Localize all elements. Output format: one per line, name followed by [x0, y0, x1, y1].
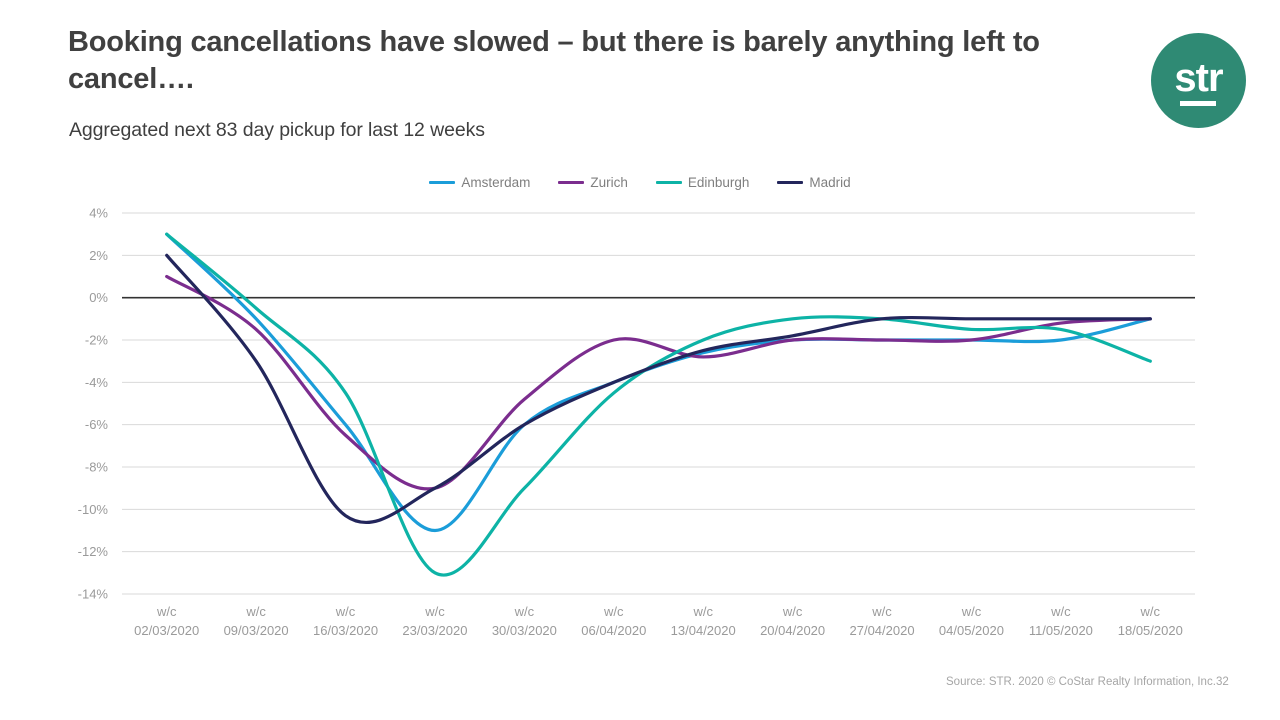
- x-axis-tick-prefix: w/c: [603, 604, 624, 619]
- y-axis-tick-label: -2%: [85, 333, 109, 348]
- x-axis-tick-label: 27/04/2020: [850, 623, 915, 638]
- x-axis-tick-prefix: w/c: [961, 604, 982, 619]
- x-axis-tick-label: 30/03/2020: [492, 623, 557, 638]
- x-axis-tick-prefix: w/c: [1140, 604, 1161, 619]
- x-axis-tick-label: 23/03/2020: [402, 623, 467, 638]
- y-axis-tick-label: -10%: [78, 502, 109, 517]
- x-axis-tick-label: 06/04/2020: [581, 623, 646, 638]
- x-axis-tick-prefix: w/c: [782, 604, 803, 619]
- x-axis-tick-prefix: w/c: [424, 604, 445, 619]
- x-axis-tick-prefix: w/c: [514, 604, 535, 619]
- y-axis-labels-group: 4%2%0%-2%-4%-6%-8%-10%-12%-14%: [78, 206, 109, 602]
- x-axis-tick-label: 09/03/2020: [224, 623, 289, 638]
- x-axis-tick-prefix: w/c: [1050, 604, 1071, 619]
- chart-svg: 4%2%0%-2%-4%-6%-8%-10%-12%-14% w/c02/03/…: [0, 0, 1280, 720]
- series-lines-group: [167, 234, 1151, 575]
- x-axis-tick-prefix: w/c: [245, 604, 266, 619]
- y-axis-tick-label: -6%: [85, 417, 109, 432]
- gridlines-group: [122, 213, 1195, 594]
- x-axis-tick-label: 13/04/2020: [671, 623, 736, 638]
- x-axis-tick-prefix: w/c: [156, 604, 177, 619]
- footer-source-text: Source: STR. 2020 © CoStar Realty Inform…: [946, 676, 1216, 688]
- x-axis-tick-prefix: w/c: [692, 604, 713, 619]
- x-axis-tick-label: 16/03/2020: [313, 623, 378, 638]
- x-axis-tick-label: 20/04/2020: [760, 623, 825, 638]
- y-axis-tick-label: -12%: [78, 544, 109, 559]
- series-line-edinburgh: [167, 234, 1151, 575]
- x-axis-tick-label: 02/03/2020: [134, 623, 199, 638]
- y-axis-tick-label: 2%: [89, 248, 108, 263]
- y-axis-tick-label: 4%: [89, 206, 108, 221]
- line-chart: 4%2%0%-2%-4%-6%-8%-10%-12%-14% w/c02/03/…: [0, 0, 1280, 720]
- x-axis-tick-label: 04/05/2020: [939, 623, 1004, 638]
- x-axis-tick-prefix: w/c: [871, 604, 892, 619]
- footer-page-number: 32: [1216, 676, 1229, 688]
- y-axis-tick-label: 0%: [89, 290, 108, 305]
- y-axis-tick-label: -8%: [85, 460, 109, 475]
- x-axis-tick-prefix: w/c: [335, 604, 356, 619]
- x-axis-labels-group: w/c02/03/2020w/c09/03/2020w/c16/03/2020w…: [134, 604, 1183, 638]
- x-axis-tick-label: 11/05/2020: [1029, 623, 1093, 638]
- y-axis-tick-label: -4%: [85, 375, 109, 390]
- x-axis-tick-label: 18/05/2020: [1118, 623, 1183, 638]
- y-axis-tick-label: -14%: [78, 587, 109, 602]
